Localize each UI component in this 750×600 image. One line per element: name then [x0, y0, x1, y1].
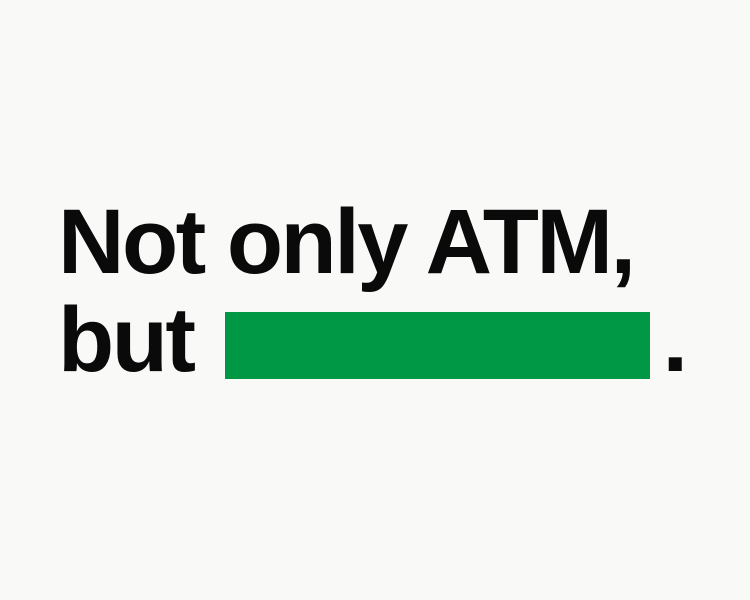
- headline-period: .: [663, 294, 686, 386]
- headline-line-one: Not only ATM,: [58, 196, 748, 288]
- headline-line-one-text: Not only ATM,: [58, 196, 634, 288]
- green-redaction-bar: [225, 312, 650, 379]
- headline-block: Not only ATM, but .: [58, 196, 748, 380]
- poster-canvas: Not only ATM, but .: [0, 0, 750, 600]
- headline-word-but: but: [58, 294, 194, 386]
- headline-line-two: but .: [58, 288, 748, 380]
